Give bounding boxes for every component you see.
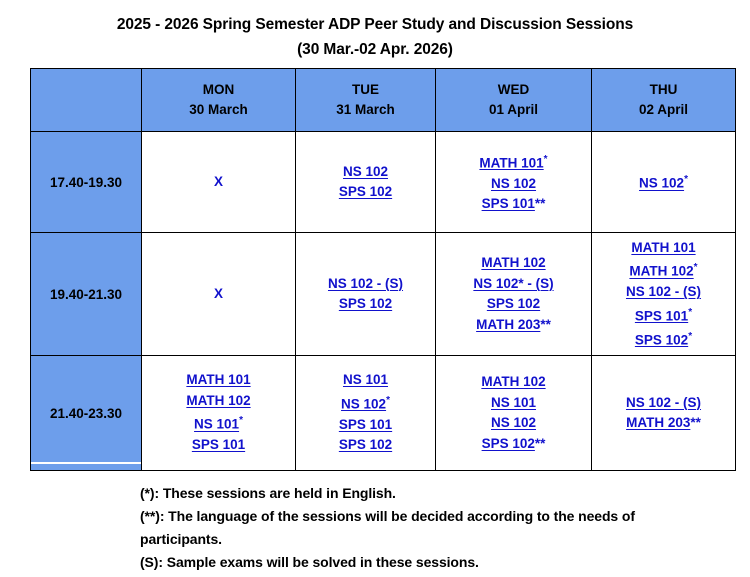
course-entry: MATH 101 xyxy=(596,238,731,259)
english-marker: * xyxy=(544,154,548,165)
course-entry: NS 102 xyxy=(440,174,587,195)
course-entry: SPS 102 xyxy=(440,294,587,315)
english-marker: * xyxy=(688,331,692,342)
course-code: NS 102 xyxy=(341,396,386,411)
course-code: MATH 102 xyxy=(629,264,693,279)
course-entry: NS 102* xyxy=(300,391,431,415)
course-list: NS 102 - (S)SPS 102 xyxy=(296,272,435,317)
course-entry: SPS 101* xyxy=(596,303,731,327)
course-code: NS 102 xyxy=(343,164,388,179)
course-code: SPS 101 xyxy=(482,196,535,211)
course-code: SPS 101 xyxy=(635,308,688,323)
footnote-language-line1: (**): The language of the sessions will … xyxy=(140,505,740,528)
english-marker: * xyxy=(386,395,390,406)
course-entry: MATH 101 xyxy=(146,370,291,391)
course-code: MATH 101 xyxy=(479,155,543,170)
course-entry: SPS 101 xyxy=(146,435,291,456)
course-entry: MATH 203** xyxy=(440,315,587,336)
course-list: NS 102 - (S)MATH 203** xyxy=(592,391,735,436)
table-header-row: MON 30 March TUE 31 March WED 01 April T… xyxy=(31,69,736,132)
header-day-mon-date: 30 March xyxy=(142,100,295,120)
header-day-mon: MON 30 March xyxy=(142,69,296,132)
page-title: 2025 - 2026 Spring Semester ADP Peer Stu… xyxy=(0,12,750,62)
course-code: SPS 102 xyxy=(482,436,535,451)
course-code: MATH 101 xyxy=(186,372,250,387)
header-day-tue-date: 31 March xyxy=(296,100,435,120)
course-entry: SPS 102* xyxy=(596,327,731,351)
course-list: NS 101NS 102*SPS 101SPS 102 xyxy=(296,368,435,458)
cell-tue-1: NS 102SPS 102 xyxy=(296,132,436,233)
course-entry: NS 102 - (S) xyxy=(596,393,731,414)
course-entry: NS 102* - (S) xyxy=(440,274,587,295)
course-code: NS 101 xyxy=(491,395,536,410)
english-marker: * xyxy=(239,415,243,426)
course-entry: MATH 102 xyxy=(440,372,587,393)
footnote-sample-exams: (S): Sample exams will be solved in thes… xyxy=(140,551,740,574)
course-entry: MATH 102 xyxy=(440,253,587,274)
course-entry: SPS 102 xyxy=(300,294,431,315)
english-marker: * xyxy=(694,262,698,273)
header-day-mon-dow: MON xyxy=(142,80,295,100)
language-marker: ** xyxy=(535,436,546,451)
weekly-schedule-table: MON 30 March TUE 31 March WED 01 April T… xyxy=(30,68,736,471)
language-marker: ** xyxy=(540,317,551,332)
course-code: MATH 203 xyxy=(476,317,540,332)
course-list: MATH 101MATH 102NS 101*SPS 101 xyxy=(142,368,295,458)
language-marker: ** xyxy=(535,196,546,211)
course-entry: MATH 101* xyxy=(440,150,587,174)
header-day-wed-dow: WED xyxy=(436,80,591,100)
course-entry: NS 102 xyxy=(300,162,431,183)
table-row: 19.40-21.30 X NS 102 - (S)SPS 102 MATH 1… xyxy=(31,233,736,356)
cell-thu-3: NS 102 - (S)MATH 203** xyxy=(592,356,736,471)
course-code: MATH 102 xyxy=(481,374,545,389)
course-list: X xyxy=(142,282,295,307)
header-day-thu: THU 02 April xyxy=(592,69,736,132)
header-day-wed: WED 01 April xyxy=(436,69,592,132)
cell-mon-1: X xyxy=(142,132,296,233)
cell-tue-3: NS 101NS 102*SPS 101SPS 102 xyxy=(296,356,436,471)
course-entry: NS 102 - (S) xyxy=(596,282,731,303)
course-code: NS 102 xyxy=(491,176,536,191)
course-list: MATH 101MATH 102*NS 102 - (S)SPS 101*SPS… xyxy=(592,236,735,353)
course-entry: MATH 203** xyxy=(596,413,731,434)
course-code: SPS 101 xyxy=(192,437,245,452)
course-entry: SPS 102** xyxy=(440,434,587,455)
footnote-english: (*): These sessions are held in English. xyxy=(140,482,740,505)
course-code: NS 102 - (S) xyxy=(626,395,701,410)
time-slot-label: 21.40-23.30 xyxy=(31,356,142,471)
course-code: MATH 101 xyxy=(631,240,695,255)
cell-thu-2: MATH 101MATH 102*NS 102 - (S)SPS 101*SPS… xyxy=(592,233,736,356)
course-entry: NS 102 - (S) xyxy=(300,274,431,295)
course-entry: NS 101* xyxy=(146,411,291,435)
time-slot-label: 17.40-19.30 xyxy=(31,132,142,233)
header-day-tue-dow: TUE xyxy=(296,80,435,100)
course-code: NS 102 - (S) xyxy=(626,284,701,299)
course-list: MATH 101*NS 102SPS 101** xyxy=(436,148,591,217)
cell-tue-2: NS 102 - (S)SPS 102 xyxy=(296,233,436,356)
title-line-1: 2025 - 2026 Spring Semester ADP Peer Stu… xyxy=(0,12,750,37)
header-day-thu-dow: THU xyxy=(592,80,735,100)
course-entry: NS 102 xyxy=(440,413,587,434)
header-day-thu-date: 02 April xyxy=(592,100,735,120)
table-body: 17.40-19.30 X NS 102SPS 102 MATH 101*NS … xyxy=(31,132,736,471)
course-entry: NS 102* xyxy=(596,170,731,194)
course-code: NS 102 xyxy=(639,176,684,191)
course-code: SPS 102 xyxy=(339,437,392,452)
course-list: MATH 102NS 102* - (S)SPS 102MATH 203** xyxy=(436,251,591,337)
course-list: NS 102* xyxy=(592,168,735,196)
no-session-mark: X xyxy=(146,284,291,305)
cell-wed-3: MATH 102NS 101NS 102SPS 102** xyxy=(436,356,592,471)
cell-wed-2: MATH 102NS 102* - (S)SPS 102MATH 203** xyxy=(436,233,592,356)
course-code: MATH 102 xyxy=(481,255,545,270)
course-code: SPS 102 xyxy=(635,332,688,347)
table-row: 17.40-19.30 X NS 102SPS 102 MATH 101*NS … xyxy=(31,132,736,233)
table-row: 21.40-23.30 MATH 101MATH 102NS 101*SPS 1… xyxy=(31,356,736,471)
course-code: NS 102 - (S) xyxy=(328,276,403,291)
cell-wed-1: MATH 101*NS 102SPS 101** xyxy=(436,132,592,233)
course-entry: MATH 102 xyxy=(146,391,291,412)
english-marker: * xyxy=(684,174,688,185)
header-day-wed-date: 01 April xyxy=(436,100,591,120)
course-entry: MATH 102* xyxy=(596,258,731,282)
no-session-mark: X xyxy=(146,172,291,193)
course-code: MATH 203 xyxy=(626,415,690,430)
cell-thu-1: NS 102* xyxy=(592,132,736,233)
course-code: SPS 102 xyxy=(339,296,392,311)
language-marker: ** xyxy=(690,415,701,430)
course-entry: NS 101 xyxy=(440,393,587,414)
footnote-language-line2: participants. xyxy=(140,528,740,551)
course-code: SPS 102 xyxy=(339,184,392,199)
course-entry: NS 101 xyxy=(300,370,431,391)
header-day-tue: TUE 31 March xyxy=(296,69,436,132)
course-entry: SPS 102 xyxy=(300,435,431,456)
course-entry: SPS 101** xyxy=(440,194,587,215)
footnotes-block: (*): These sessions are held in English.… xyxy=(140,482,740,574)
schedule-page: 2025 - 2026 Spring Semester ADP Peer Stu… xyxy=(0,0,750,577)
course-code: NS 101 xyxy=(343,372,388,387)
course-code: NS 102 xyxy=(491,415,536,430)
english-marker: * xyxy=(688,307,692,318)
course-entry: SPS 101 xyxy=(300,415,431,436)
time-slot-label: 19.40-21.30 xyxy=(31,233,142,356)
course-list: X xyxy=(142,170,295,195)
cell-mon-2: X xyxy=(142,233,296,356)
course-code: MATH 102 xyxy=(186,393,250,408)
course-code: SPS 101 xyxy=(339,417,392,432)
title-line-2: (30 Mar.-02 Apr. 2026) xyxy=(0,37,750,62)
course-code: NS 101 xyxy=(194,417,239,432)
course-list: NS 102SPS 102 xyxy=(296,160,435,205)
course-list: MATH 102NS 101NS 102SPS 102** xyxy=(436,370,591,456)
course-code: NS 102* - (S) xyxy=(473,276,553,291)
header-corner-cell xyxy=(31,69,142,132)
course-code: SPS 102 xyxy=(487,296,540,311)
cell-mon-3: MATH 101MATH 102NS 101*SPS 101 xyxy=(142,356,296,471)
course-entry: SPS 102 xyxy=(300,182,431,203)
